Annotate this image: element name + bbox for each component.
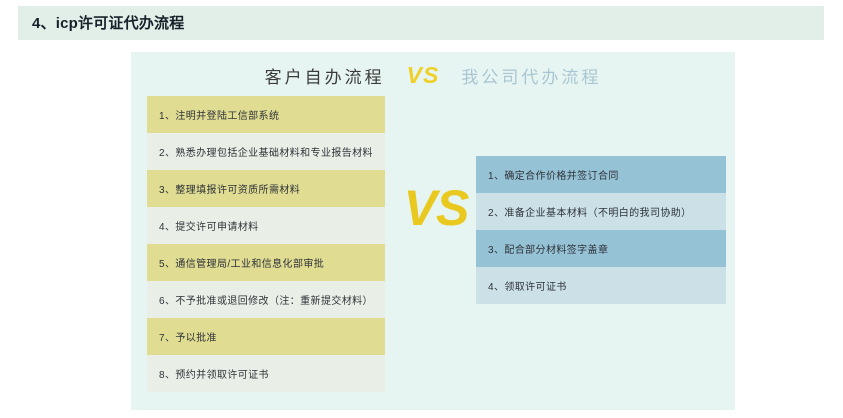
list-item: 5、通信管理局/工业和信息化部审批: [147, 244, 385, 281]
center-vs-label: VS: [386, 183, 486, 233]
page-title: 4、icp许可证代办流程: [18, 16, 184, 31]
list-item: 7、予以批准: [147, 318, 385, 355]
list-item: 8、预约并领取许可证书: [147, 355, 385, 392]
left-column-title: 客户自办流程: [265, 63, 385, 88]
list-item: 2、熟悉办理包括企业基础材料和专业报告材料: [147, 133, 385, 170]
list-item: 3、配合部分材料签字盖章: [476, 230, 726, 267]
list-item: 6、不予批准或退回修改（注：重新提交材料）: [147, 281, 385, 318]
list-item: 4、领取许可证书: [476, 267, 726, 304]
section-heading-bar: 4、icp许可证代办流程: [18, 6, 824, 40]
left-flow-column: 1、注明并登陆工信部系统 2、熟悉办理包括企业基础材料和专业报告材料 3、整理填…: [147, 96, 385, 392]
comparison-panel: 客户自办流程 VS 我公司代办流程 1、注明并登陆工信部系统 2、熟悉办理包括企…: [131, 52, 735, 410]
column-titles-row: 客户自办流程 VS 我公司代办流程: [131, 58, 735, 92]
list-item: 1、确定合作价格并签订合同: [476, 156, 726, 193]
right-flow-column: 1、确定合作价格并签订合同 2、准备企业基本材料（不明白的我司协助） 3、配合部…: [476, 156, 726, 304]
list-item: 1、注明并登陆工信部系统: [147, 96, 385, 133]
titles-vs-label: VS: [407, 64, 440, 87]
list-item: 2、准备企业基本材料（不明白的我司协助）: [476, 193, 726, 230]
right-column-title: 我公司代办流程: [461, 63, 601, 88]
list-item: 4、提交许可申请材料: [147, 207, 385, 244]
list-item: 3、整理填报许可资质所需材料: [147, 170, 385, 207]
